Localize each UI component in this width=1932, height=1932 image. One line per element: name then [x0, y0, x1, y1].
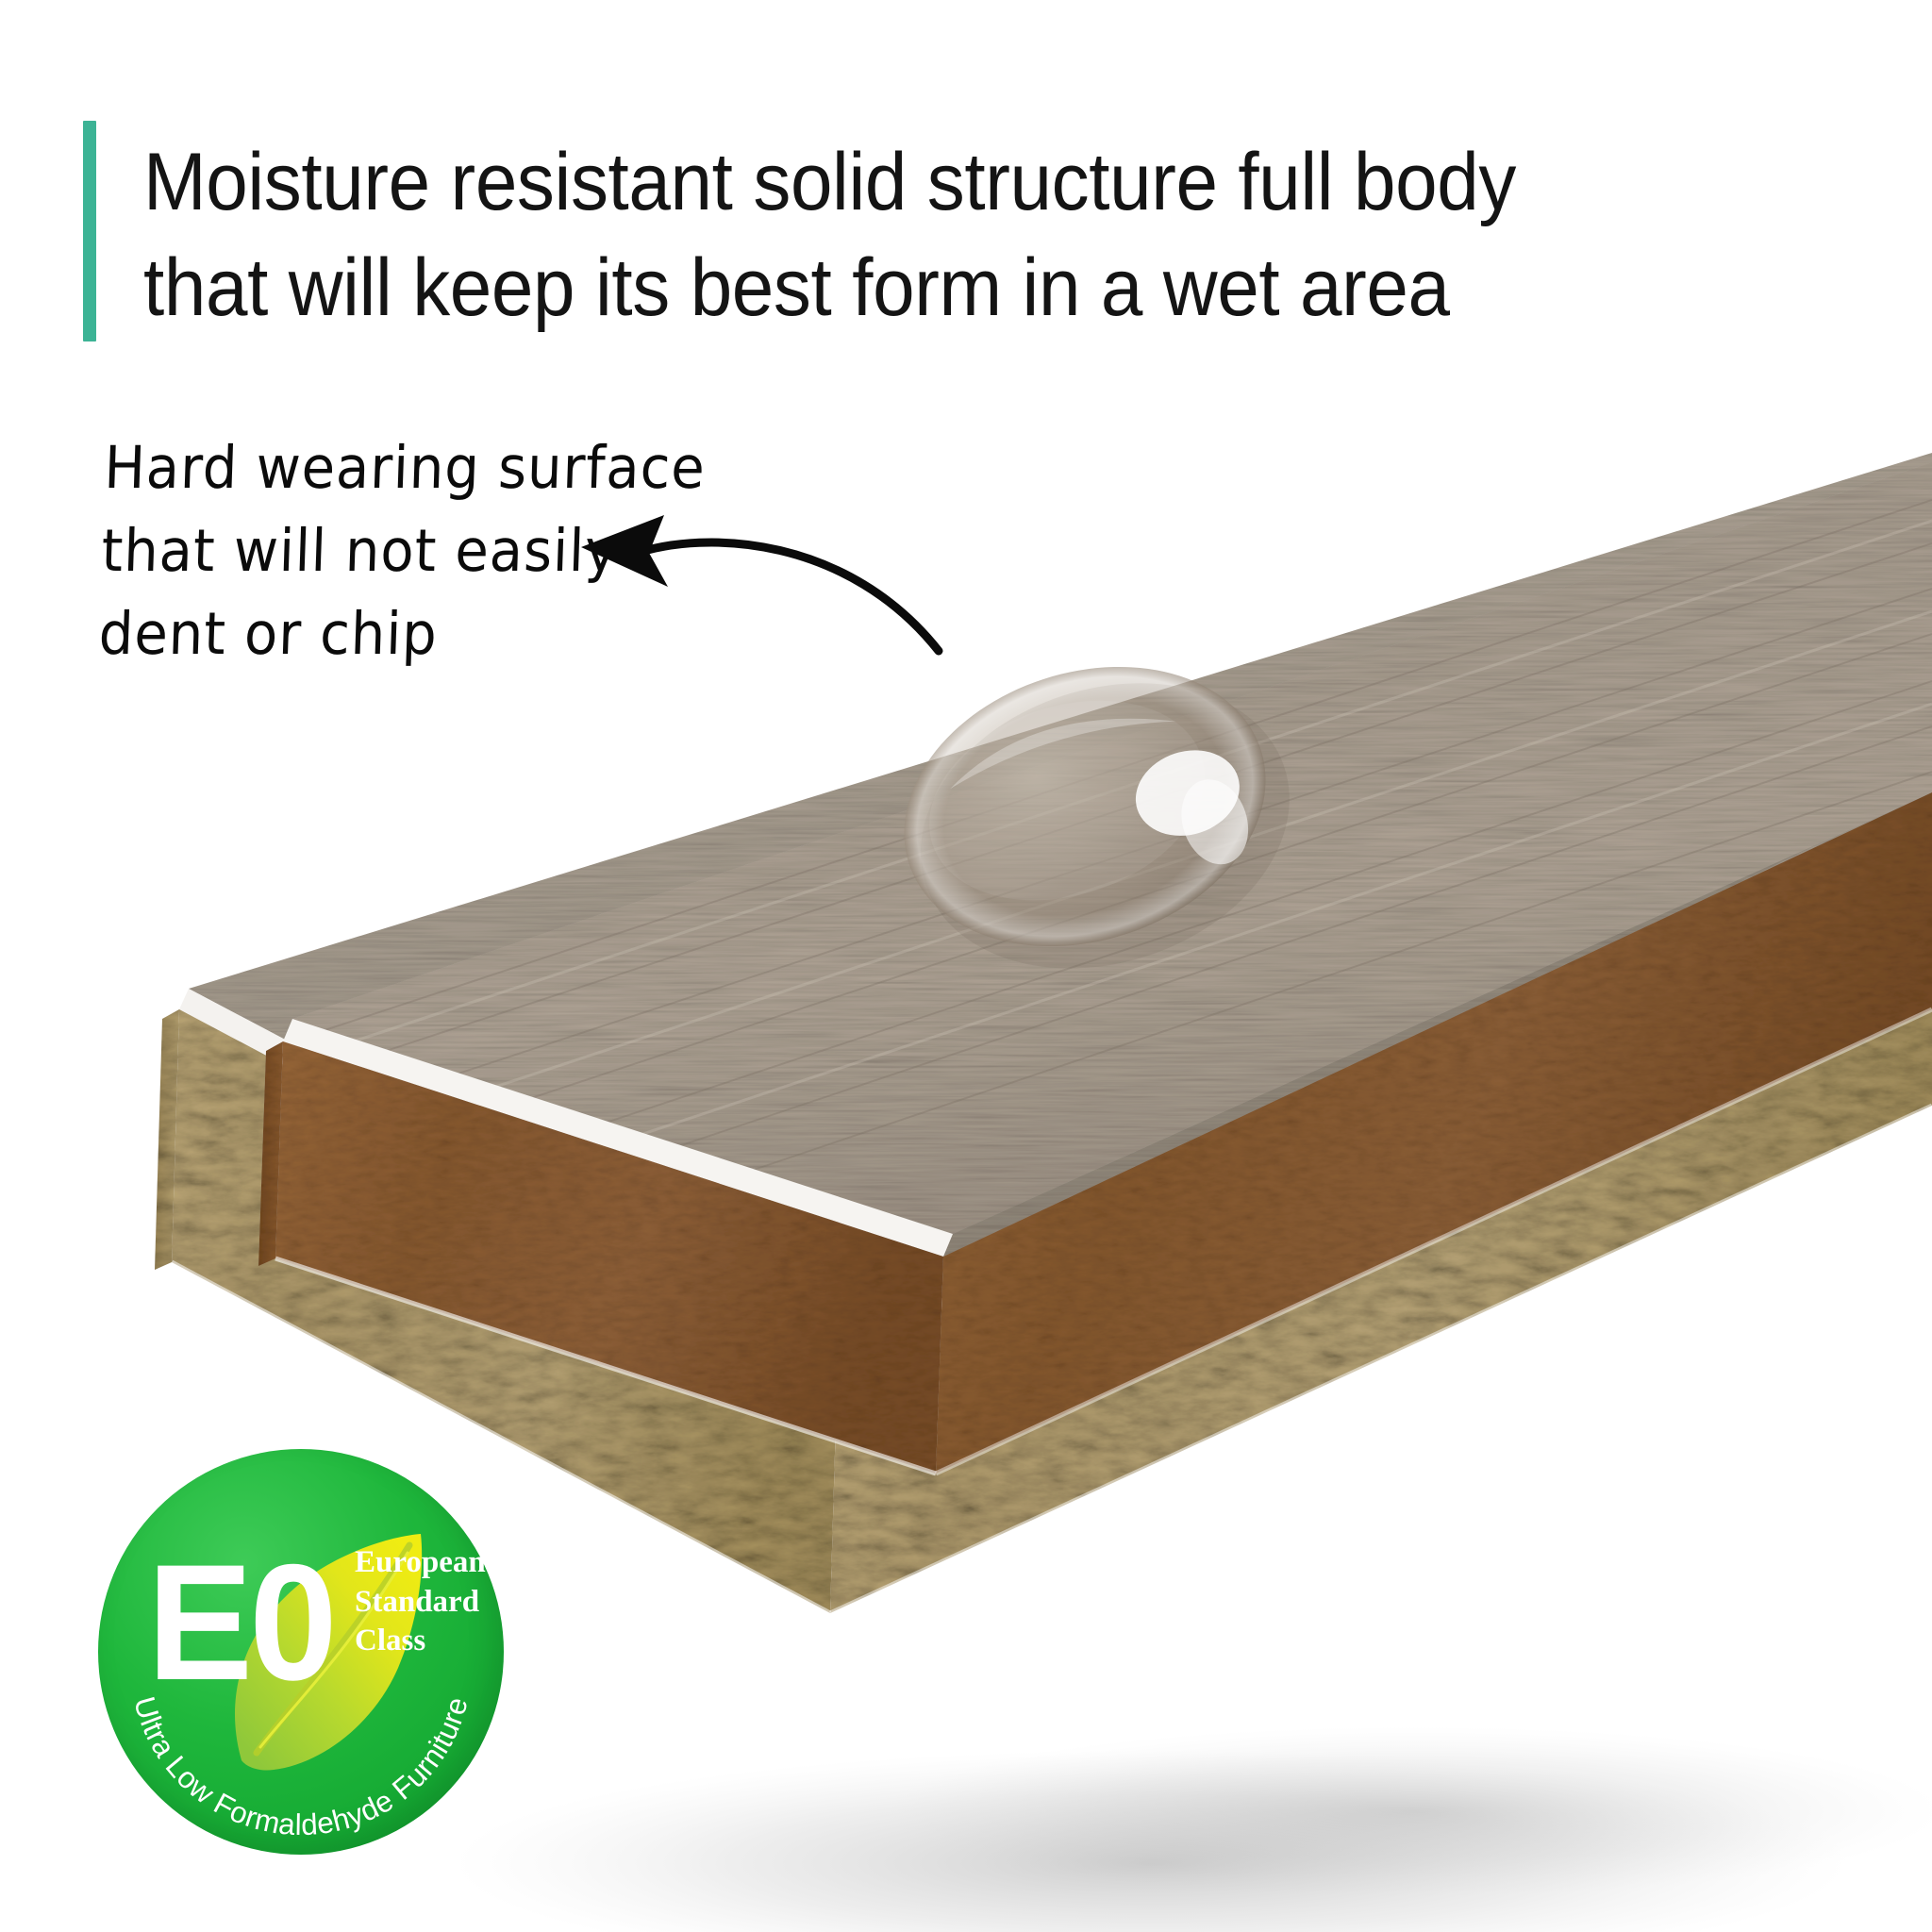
annotation-text: Hard wearing surface that will not easil…	[97, 426, 772, 675]
badge-arc-text: Ultra Low Formaldehyde Furniture	[98, 1449, 504, 1855]
infographic-page: Moisture resistant solid structure full …	[0, 0, 1932, 1932]
page-title: Moisture resistant solid structure full …	[143, 121, 1516, 341]
svg-text:Ultra Low Formaldehyde Furnitu: Ultra Low Formaldehyde Furniture	[127, 1693, 475, 1842]
headline-accent-bar	[83, 121, 96, 341]
headline-block: Moisture resistant solid structure full …	[83, 121, 1781, 341]
eo-certification-badge: E0 European Standard Class Ultra Low For…	[98, 1449, 504, 1855]
badge-arc-label: Ultra Low Formaldehyde Furniture	[127, 1693, 475, 1842]
